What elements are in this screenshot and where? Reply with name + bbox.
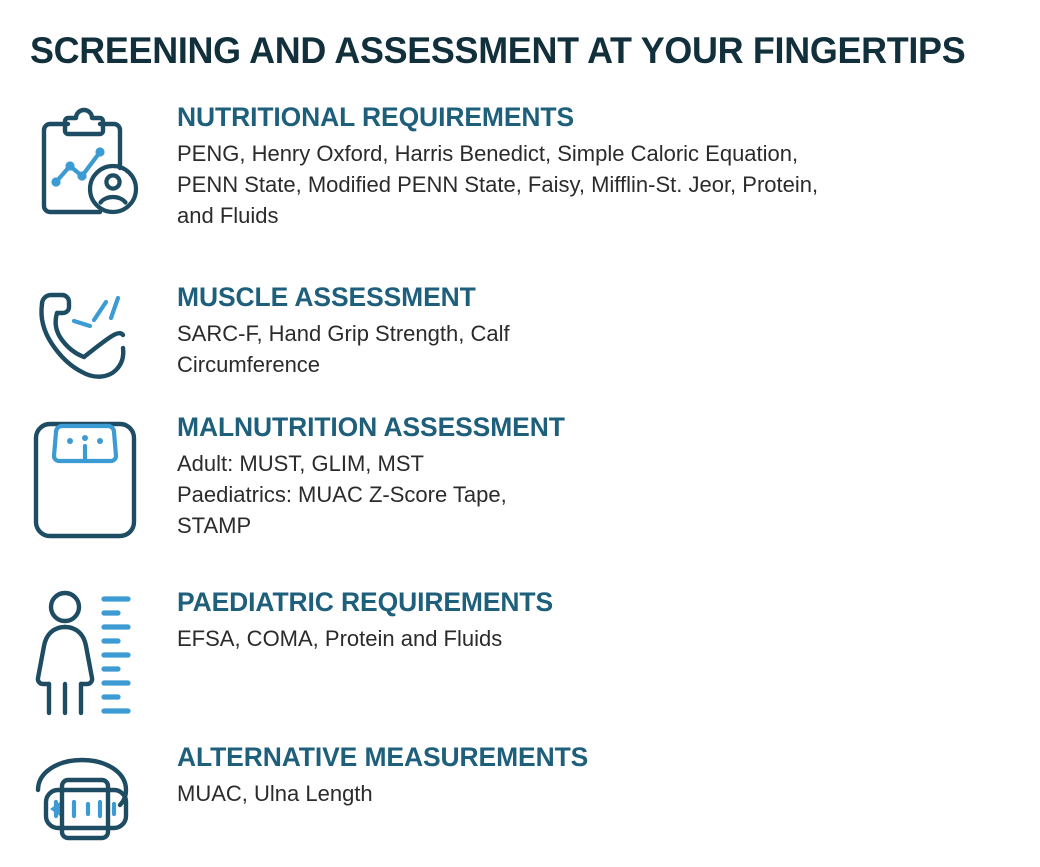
section-heading: PAEDIATRIC REQUIREMENTS bbox=[177, 585, 1005, 619]
body-line: Adult: MUST, GLIM, MST bbox=[177, 448, 1022, 479]
icon-cell bbox=[28, 585, 177, 720]
page-title: SCREENING AND ASSESSMENT AT YOUR FINGERT… bbox=[30, 28, 990, 74]
body-line: Paediatrics: MUAC Z-Score Tape, bbox=[177, 479, 1022, 510]
section-muscle-assessment: MUSCLE ASSESSMENT SARC-F, Hand Grip Stre… bbox=[0, 280, 1040, 410]
body-line: STAMP bbox=[177, 510, 1022, 541]
text-cell: ALTERNATIVE MEASUREMENTS MUAC, Ulna Leng… bbox=[177, 740, 1040, 809]
body-line: SARC-F, Hand Grip Strength, Calf bbox=[177, 318, 1022, 349]
icon-cell bbox=[28, 740, 177, 851]
text-cell: PAEDIATRIC REQUIREMENTS EFSA, COMA, Prot… bbox=[177, 585, 1040, 654]
section-paediatric-requirements: PAEDIATRIC REQUIREMENTS EFSA, COMA, Prot… bbox=[0, 585, 1040, 728]
body-line: and Fluids bbox=[177, 200, 1022, 231]
section-list: NUTRITIONAL REQUIREMENTS PENG, Henry Oxf… bbox=[0, 100, 1040, 860]
child-height-ruler-icon bbox=[28, 585, 144, 720]
icon-cell bbox=[28, 100, 177, 222]
text-cell: MALNUTRITION ASSESSMENT Adult: MUST, GLI… bbox=[177, 410, 1040, 541]
section-heading: NUTRITIONAL REQUIREMENTS bbox=[177, 100, 1005, 134]
section-alternative-measurements: ALTERNATIVE MEASUREMENTS MUAC, Ulna Leng… bbox=[0, 740, 1040, 860]
body-line: PENG, Henry Oxford, Harris Benedict, Sim… bbox=[177, 138, 1022, 169]
icon-cell bbox=[28, 280, 177, 392]
section-body: Adult: MUST, GLIM, MST Paediatrics: MUAC… bbox=[177, 448, 1022, 541]
text-cell: MUSCLE ASSESSMENT SARC-F, Hand Grip Stre… bbox=[177, 280, 1040, 380]
section-body: PENG, Henry Oxford, Harris Benedict, Sim… bbox=[177, 138, 1022, 231]
body-line: MUAC, Ulna Length bbox=[177, 778, 1022, 809]
section-body: SARC-F, Hand Grip Strength, Calf Circumf… bbox=[177, 318, 1022, 380]
body-line: PENN State, Modified PENN State, Faisy, … bbox=[177, 169, 1022, 200]
flexed-bicep-icon bbox=[28, 282, 144, 392]
weighing-scale-icon bbox=[28, 416, 144, 546]
section-heading: ALTERNATIVE MEASUREMENTS bbox=[177, 740, 1005, 774]
text-cell: NUTRITIONAL REQUIREMENTS PENG, Henry Oxf… bbox=[177, 100, 1040, 231]
section-nutritional-requirements: NUTRITIONAL REQUIREMENTS PENG, Henry Oxf… bbox=[0, 100, 1040, 280]
icon-cell bbox=[28, 410, 177, 546]
section-malnutrition-assessment: MALNUTRITION ASSESSMENT Adult: MUST, GLI… bbox=[0, 410, 1040, 585]
section-heading: MALNUTRITION ASSESSMENT bbox=[177, 410, 1005, 444]
body-line: Circumference bbox=[177, 349, 1022, 380]
section-body: EFSA, COMA, Protein and Fluids bbox=[177, 623, 1022, 654]
section-body: MUAC, Ulna Length bbox=[177, 778, 1022, 809]
body-line: EFSA, COMA, Protein and Fluids bbox=[177, 623, 1022, 654]
section-heading: MUSCLE ASSESSMENT bbox=[177, 280, 1005, 314]
clipboard-chart-person-icon bbox=[28, 106, 144, 222]
infographic-page: SCREENING AND ASSESSMENT AT YOUR FINGERT… bbox=[0, 0, 1040, 867]
muac-arm-tape-icon bbox=[28, 746, 144, 851]
